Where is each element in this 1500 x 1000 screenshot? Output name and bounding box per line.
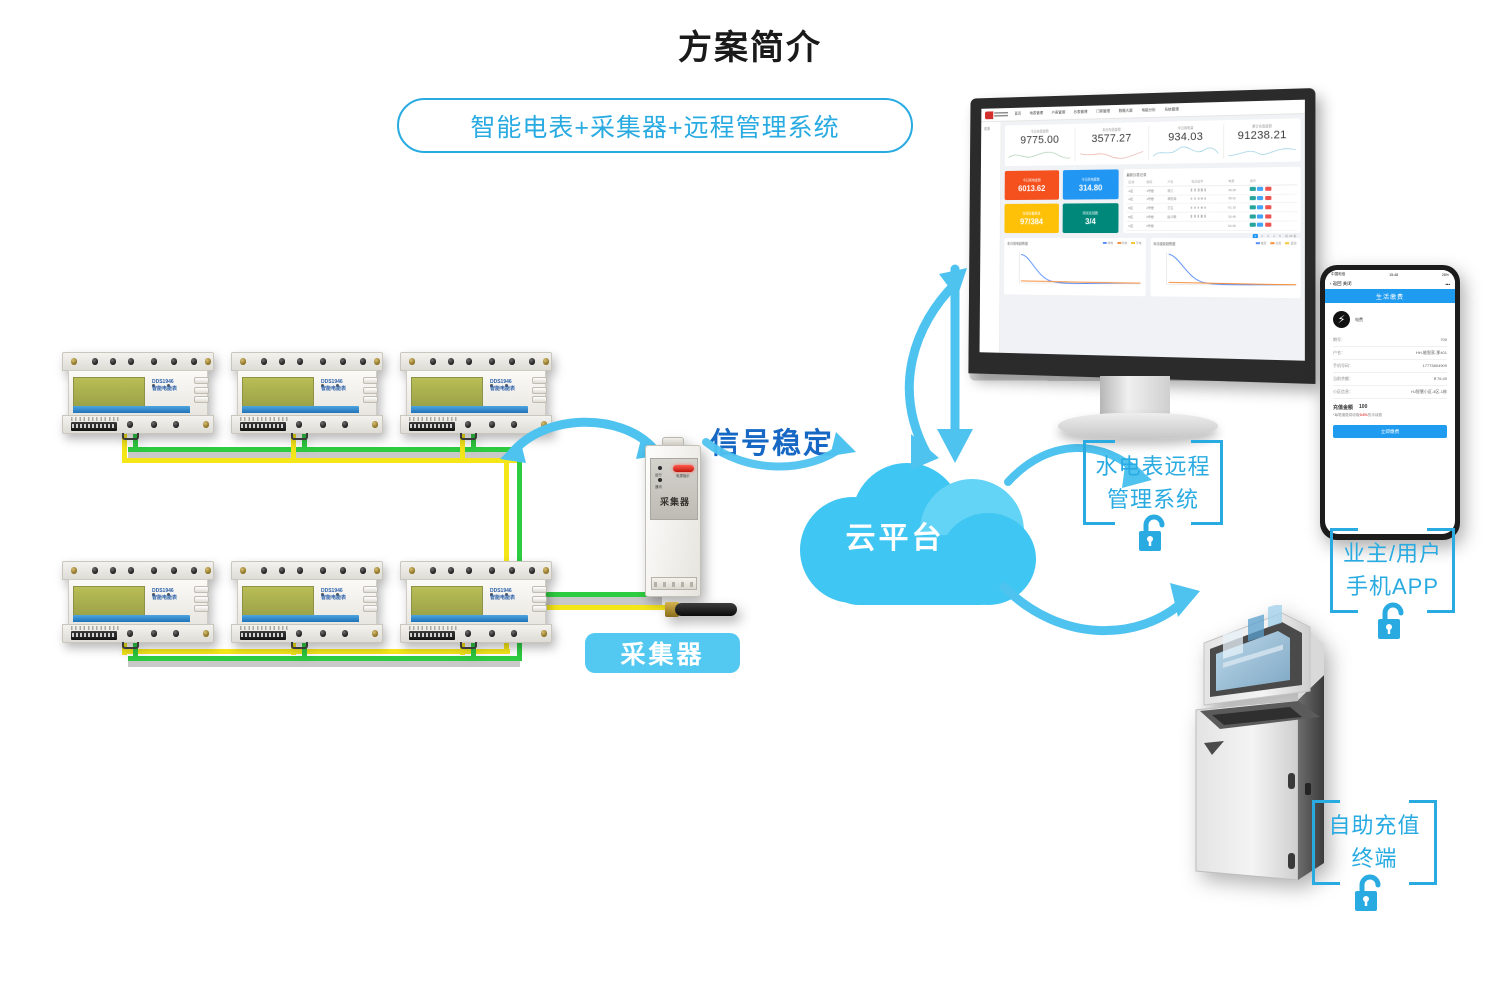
table-row[interactable]: C区 3号楼 52.00: [1126, 221, 1297, 230]
field-label: 小区信息：: [1333, 389, 1353, 395]
meter-terminal-label: [71, 417, 119, 421]
category-label: 电费: [1355, 317, 1363, 323]
kpi-value: 3577.27: [1076, 132, 1148, 145]
subtitle-pill: 智能电表+采集器+远程管理系统: [397, 98, 913, 153]
callout-line-2: 管理系统: [1083, 484, 1223, 515]
form-row: 小区信息： HJ智慧小区-4区-1栋: [1333, 386, 1447, 399]
cell-meter-no: [1189, 185, 1226, 194]
tile-value: 6013.62: [1018, 184, 1045, 193]
desktop-monitor: 首页 电表管理 户表管理 抄表管理 门禁管理 数据大屏 电能分析 系统管理 总览: [950, 93, 1320, 453]
collector-led-b-label: 通讯: [655, 484, 662, 489]
phone-info-form: 期号： 700 户名： HH-能智家-那401 手机号码： 1777380490…: [1325, 334, 1455, 399]
meter-buttons[interactable]: [363, 377, 378, 406]
form-row: 户名： HH-能智家-那401: [1333, 347, 1447, 360]
chart-legend: 峰电 谷电 平电: [1103, 241, 1141, 245]
meter-din-clip: [291, 433, 308, 440]
field-value: HH-能智家-那401: [1416, 350, 1447, 356]
tile-label: 网关在线数: [1083, 210, 1098, 215]
field-label: 当前余额：: [1333, 376, 1353, 382]
kpi-card-0: 今日充值金额 9775.00: [1005, 128, 1076, 163]
meter-terminal-label: [240, 626, 288, 630]
meter-top-rail: [400, 352, 552, 371]
form-row: 手机号码： 17773804909: [1333, 360, 1447, 373]
callout-line-2: 手机APP: [1330, 571, 1455, 602]
diagram-canvas: 方案简介 智能电表+采集器+远程管理系统 DDS1946: [0, 0, 1500, 1000]
chart-card-1: 本月缴费趋势图 电费 水费 其他: [1150, 238, 1301, 298]
chart-legend: 电费 水费 其他: [1255, 241, 1296, 245]
cell-actions[interactable]: [1248, 212, 1298, 221]
monitor-bezel: 首页 电表管理 户表管理 抄表管理 门禁管理 数据大屏 电能分析 系统管理 总览: [968, 88, 1315, 384]
nav-item-2[interactable]: 户表管理: [1051, 110, 1065, 115]
cell-area: A区: [1126, 186, 1144, 195]
meter-terminal-label: [71, 626, 119, 630]
chart-plot: [1153, 248, 1297, 290]
meter-buttons[interactable]: [194, 377, 209, 406]
wire-green-bottom: [128, 656, 522, 661]
cell-meter-no: [1189, 221, 1226, 230]
tile-1[interactable]: 今日用电度数 314.80: [1063, 169, 1119, 199]
meter-brand: DDS1946智能电能表: [321, 379, 361, 395]
cell-name: 张三: [1165, 186, 1189, 195]
unlock-icon: [1136, 513, 1170, 555]
more-icon[interactable]: •••: [1445, 282, 1450, 287]
meter-accent-bar: [411, 615, 528, 622]
meter-din-clip: [122, 642, 139, 649]
meter-lcd: [242, 377, 314, 407]
subtitle-text: 智能电表+采集器+远程管理系统: [470, 108, 839, 144]
callout-line-1: 业主/用户: [1330, 538, 1455, 569]
fee-note: *每笔缴费将收取0.6%的手续费: [1325, 413, 1455, 418]
cell-name: 李四海: [1165, 195, 1189, 204]
meter-top-rail: [62, 352, 214, 371]
meter-din-clip: [460, 433, 477, 440]
tile-0[interactable]: 今日用电金额 6013.62: [1005, 170, 1060, 200]
field-label: 期号：: [1333, 337, 1345, 343]
chart-row: 本月用电趋势图 峰电 谷电 平电: [1004, 238, 1301, 298]
meter-lcd: [411, 377, 483, 407]
field-value: 700: [1440, 337, 1447, 343]
cell-value: 30.40: [1226, 212, 1248, 221]
tile-value: 314.80: [1079, 183, 1103, 192]
cell-name: 王五: [1165, 204, 1189, 213]
cell-meter-no: [1189, 194, 1226, 203]
metric-tiles: 今日用电金额 6013.62 今日用电度数 314.80 在线设备数量: [1004, 169, 1118, 233]
callout-line-1: 水电表远程: [1083, 451, 1223, 482]
phone-category-row: ⚡ 电费: [1325, 303, 1455, 334]
collector-panel: 电源指示 运行 通讯 采集器: [650, 458, 698, 520]
field-value: HJ智慧小区-4区-1栋: [1411, 389, 1447, 395]
pay-now-button[interactable]: 立即缴费: [1333, 425, 1447, 438]
field-value: 17773804909: [1423, 363, 1447, 369]
collector-body: 电源指示 运行 通讯 采集器: [645, 445, 701, 597]
kpi-card-3: 累计充值金额 91238.21: [1224, 122, 1301, 158]
collector-power-led: [673, 465, 694, 472]
field-value: ￥76.40: [1433, 376, 1447, 382]
page-title: 方案简介: [0, 20, 1500, 69]
field-label: 户名：: [1333, 350, 1345, 356]
phone-nav-bar: ‹ 返回 关闭 •••: [1325, 279, 1455, 289]
meter-terminal-label: [240, 417, 288, 421]
cell-actions[interactable]: [1248, 185, 1298, 195]
nav-item-7[interactable]: 系统管理: [1164, 107, 1178, 112]
tile-value: 97/384: [1020, 217, 1043, 226]
meter-top-rail: [62, 561, 214, 580]
back-button[interactable]: ‹ 返回 关闭: [1330, 281, 1352, 287]
meter-4[interactable]: DDS1946智能电能表: [62, 561, 214, 643]
chart-plot: [1007, 248, 1143, 288]
tile-2[interactable]: 在线设备数量 97/384: [1004, 204, 1059, 233]
chart-card-0: 本月用电趋势图 峰电 谷电 平电: [1004, 238, 1145, 296]
collector-led-a: [658, 466, 662, 470]
wire-yellow-bottom: [122, 649, 510, 654]
meter-1[interactable]: DDS1946智能电能表: [62, 352, 214, 434]
form-row: 期号： 700: [1333, 334, 1447, 347]
meter-5[interactable]: DDS1946智能电能表: [231, 561, 383, 643]
meter-terminal-label: [409, 626, 457, 630]
amount-input[interactable]: 100: [1359, 404, 1367, 411]
tile-label: 在线设备数量: [1023, 211, 1041, 216]
status-carrier: 中国电信: [1331, 272, 1345, 277]
kpi-value: 91238.21: [1224, 129, 1301, 143]
meter-brand: DDS1946智能电能表: [490, 379, 530, 395]
collector-terminal-block: [651, 577, 697, 590]
nav-item-3[interactable]: 抄表管理: [1074, 110, 1088, 115]
collector-device-label: 采集器: [651, 495, 699, 508]
kpi-sparkline: [1228, 143, 1296, 158]
kpi-value: 9775.00: [1005, 134, 1075, 147]
meter-terminal-block: [409, 631, 455, 640]
callout-line-2: 终端: [1312, 843, 1437, 874]
collector-badge: 采集器: [585, 633, 740, 673]
meter-terminal-block: [71, 631, 117, 640]
meter-buttons[interactable]: [363, 586, 378, 615]
cloud-label: 云平台: [800, 513, 990, 557]
dashboard: 首页 电表管理 户表管理 抄表管理 门禁管理 数据大屏 电能分析 系统管理 总览: [980, 100, 1305, 361]
collector-led-red-label: 电源指示: [676, 473, 690, 478]
kpi-card-1: 本月充值金额 3577.27: [1076, 126, 1149, 161]
cell-value: 45.20: [1226, 185, 1248, 194]
unlock-icon: [1352, 873, 1386, 915]
kpi-value: 934.03: [1149, 130, 1223, 144]
arrow-meters-collector: [490, 405, 670, 475]
meter-brand: DDS1946智能电能表: [490, 588, 530, 604]
phone-status-bar: 中国电信 15:48 28%: [1325, 270, 1455, 279]
dashboard-main: 今日充值金额 9775.00 本月充值金额 3577.27: [1000, 114, 1305, 361]
meter-terminal-label: [409, 417, 457, 421]
meter-buttons[interactable]: [194, 586, 209, 615]
kpi-sparkline: [1009, 147, 1070, 161]
meter-2[interactable]: DDS1946智能电能表: [231, 352, 383, 434]
data-collector-device[interactable]: 电源指示 运行 通讯 采集器: [645, 437, 701, 605]
recharge-amount-row[interactable]: 充值金额 100: [1325, 399, 1455, 413]
nav-item-4[interactable]: 门禁管理: [1096, 109, 1110, 114]
bolt-icon: ⚡: [1333, 311, 1350, 328]
meter-top-rail: [231, 561, 383, 580]
mobile-phone: 中国电信 15:48 28% ‹ 返回 关闭 ••• 生活缴费 ⚡ 电费 期号：…: [1320, 265, 1460, 540]
monitor-screen[interactable]: 首页 电表管理 户表管理 抄表管理 门禁管理 数据大屏 电能分析 系统管理 总览: [980, 100, 1305, 361]
cell-value: 38.61: [1226, 194, 1248, 203]
cell-building: 3号楼: [1144, 221, 1165, 230]
meter-terminal-block: [71, 422, 117, 431]
phone-body: 中国电信 15:48 28% ‹ 返回 关闭 ••• 生活缴费 ⚡ 电费 期号：…: [1320, 265, 1460, 540]
meter-brand: DDS1946智能电能表: [152, 588, 192, 604]
phone-page-title: 生活缴费: [1325, 289, 1455, 303]
nav-item-6[interactable]: 电能分析: [1141, 108, 1155, 113]
meter-terminal-block: [240, 631, 286, 640]
meter-accent-bar: [242, 406, 359, 413]
kpi-row: 今日充值金额 9775.00 本月充值金额 3577.27: [1005, 118, 1301, 166]
nav-item-1[interactable]: 电表管理: [1030, 111, 1044, 116]
records-table-card: 最新抄表记录 区域 楼栋 户名 电表编号 电量 操作: [1123, 167, 1300, 233]
dashboard-sidebar: 总览: [980, 122, 1002, 353]
cell-name: [1165, 221, 1189, 230]
kpi-card-2: 今日用电量 934.03: [1149, 124, 1224, 160]
meter-6[interactable]: DDS1946智能电能表: [400, 561, 552, 643]
cell-area: A区: [1126, 195, 1144, 204]
meter-brand: DDS1946智能电能表: [152, 379, 192, 395]
phone-screen[interactable]: 中国电信 15:48 28% ‹ 返回 关闭 ••• 生活缴费 ⚡ 电费 期号：…: [1325, 270, 1455, 534]
tile-value: 3/4: [1085, 217, 1096, 226]
meter-accent-bar: [73, 615, 190, 622]
meter-terminal-block: [409, 422, 455, 431]
cell-value: 61.10: [1226, 203, 1248, 212]
nav-item-0[interactable]: 首页: [1014, 112, 1021, 117]
sidebar-item-0[interactable]: 总览: [984, 126, 998, 131]
kpi-sparkline: [1153, 145, 1218, 159]
meter-accent-bar: [242, 615, 359, 622]
field-label: 手机号码：: [1333, 363, 1353, 369]
meter-din-clip: [460, 642, 477, 649]
cell-actions[interactable]: [1248, 203, 1298, 212]
cell-area: B区: [1126, 213, 1144, 222]
nav-item-5[interactable]: 数据大屏: [1119, 109, 1133, 114]
cell-building: 1号楼: [1144, 195, 1165, 204]
meter-buttons[interactable]: [532, 586, 547, 615]
meter-accent-bar: [73, 406, 190, 413]
tile-and-table-row: 今日用电金额 6013.62 今日用电度数 314.80 在线设备数量: [1004, 167, 1300, 233]
cell-meter-no: [1189, 212, 1226, 221]
meter-din-clip: [122, 433, 139, 440]
cell-building: 1号楼: [1144, 186, 1165, 195]
meter-lcd: [242, 586, 314, 616]
meter-top-rail: [400, 561, 552, 580]
meter-din-clip: [291, 642, 308, 649]
cell-name: 赵六明: [1165, 212, 1189, 221]
meter-brand: DDS1946智能电能表: [321, 588, 361, 604]
meter-terminal-block: [240, 422, 286, 431]
callout-line-1: 自助充值: [1312, 810, 1437, 841]
status-battery: 28%: [1442, 273, 1449, 277]
kpi-sparkline: [1080, 146, 1143, 160]
collector-led-a-label: 运行: [655, 472, 662, 477]
unlock-icon: [1375, 601, 1409, 643]
meter-lcd: [73, 586, 145, 616]
cell-area: C区: [1126, 221, 1144, 230]
records-table: 区域 楼栋 户名 电表编号 电量 操作 A区: [1126, 177, 1297, 231]
meter-buttons[interactable]: [532, 377, 547, 406]
meter-lcd: [411, 586, 483, 616]
collector-antenna: [675, 603, 737, 616]
arrow-cloud-kiosk: [1000, 565, 1210, 655]
cell-actions[interactable]: [1248, 194, 1298, 203]
amount-label: 充值金额: [1333, 404, 1353, 411]
collector-led-b: [658, 478, 662, 482]
cell-actions[interactable]: [1248, 221, 1298, 230]
cell-meter-no: [1189, 203, 1226, 212]
cell-building: 2号楼: [1144, 204, 1165, 213]
tile-label: 今日用电金额: [1023, 177, 1041, 182]
form-row: 当前余额： ￥76.40: [1333, 373, 1447, 386]
cell-area: B区: [1126, 204, 1144, 213]
tile-label: 今日用电度数: [1081, 177, 1099, 182]
brand-logo-icon: [985, 110, 1009, 118]
tile-3[interactable]: 网关在线数 3/4: [1063, 203, 1119, 233]
meter-top-rail: [231, 352, 383, 371]
cell-value: 52.00: [1226, 221, 1248, 230]
cell-building: 2号楼: [1144, 212, 1165, 221]
monitor-base: [1058, 413, 1218, 439]
status-time: 15:48: [1389, 273, 1398, 277]
meter-lcd: [73, 377, 145, 407]
table-title: 最新抄表记录: [1126, 170, 1297, 177]
